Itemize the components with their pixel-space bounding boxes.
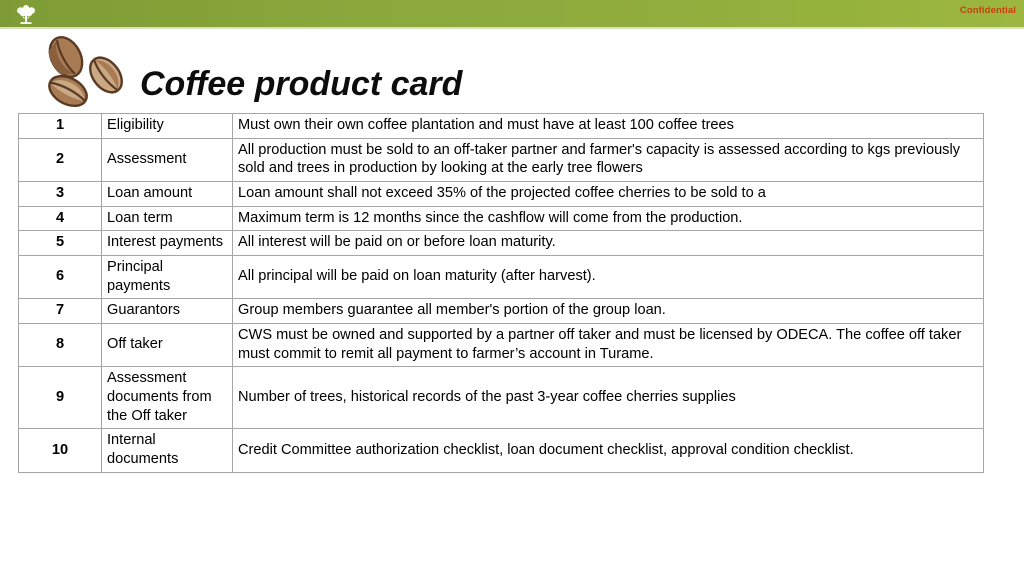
row-description: All principal will be paid on loan matur… — [233, 256, 984, 299]
table-row: 3 Loan amount Loan amount shall not exce… — [19, 182, 984, 207]
row-description: Maximum term is 12 months since the cash… — [233, 206, 984, 231]
title-area: Coffee product card — [0, 29, 1024, 111]
row-label: Eligibility — [102, 114, 233, 139]
row-label: Guarantors — [102, 299, 233, 324]
row-number: 4 — [19, 206, 102, 231]
row-number: 1 — [19, 114, 102, 139]
row-number: 7 — [19, 299, 102, 324]
row-number: 8 — [19, 324, 102, 367]
row-number: 5 — [19, 231, 102, 256]
table-row: 4 Loan term Maximum term is 12 months si… — [19, 206, 984, 231]
row-label: Internal documents — [102, 429, 233, 472]
row-description: CWS must be owned and supported by a par… — [233, 324, 984, 367]
row-description: Credit Committee authorization checklist… — [233, 429, 984, 472]
table-row: 6 Principal payments All principal will … — [19, 256, 984, 299]
table-row: 8 Off taker CWS must be owned and suppor… — [19, 324, 984, 367]
row-label: Interest payments — [102, 231, 233, 256]
confidential-label: Confidential — [960, 5, 1016, 16]
table-body: 1 Eligibility Must own their own coffee … — [19, 114, 984, 473]
row-description: Number of trees, historical records of t… — [233, 367, 984, 429]
row-description: Group members guarantee all member's por… — [233, 299, 984, 324]
table-row: 2 Assessment All production must be sold… — [19, 138, 984, 181]
row-label: Principal payments — [102, 256, 233, 299]
row-description: All interest will be paid on or before l… — [233, 231, 984, 256]
row-label: Off taker — [102, 324, 233, 367]
tree-logo-icon — [6, 1, 46, 27]
row-label: Assessment — [102, 138, 233, 181]
coffee-product-card-table: 1 Eligibility Must own their own coffee … — [18, 113, 984, 473]
table-row: 7 Guarantors Group members guarantee all… — [19, 299, 984, 324]
table-row: 9 Assessment documents from the Off take… — [19, 367, 984, 429]
row-label: Loan amount — [102, 182, 233, 207]
row-number: 9 — [19, 367, 102, 429]
row-number: 6 — [19, 256, 102, 299]
row-description: All production must be sold to an off-ta… — [233, 138, 984, 181]
row-number: 3 — [19, 182, 102, 207]
row-label: Loan term — [102, 206, 233, 231]
row-description: Loan amount shall not exceed 35% of the … — [233, 182, 984, 207]
page-title: Coffee product card — [140, 67, 462, 101]
row-number: 2 — [19, 138, 102, 181]
table-row: 5 Interest payments All interest will be… — [19, 231, 984, 256]
row-label: Assessment documents from the Off taker — [102, 367, 233, 429]
row-description: Must own their own coffee plantation and… — [233, 114, 984, 139]
top-banner: Confidential — [0, 0, 1024, 27]
coffee-beans-icon — [36, 33, 140, 109]
table-row: 1 Eligibility Must own their own coffee … — [19, 114, 984, 139]
table-row: 10 Internal documents Credit Committee a… — [19, 429, 984, 472]
row-number: 10 — [19, 429, 102, 472]
